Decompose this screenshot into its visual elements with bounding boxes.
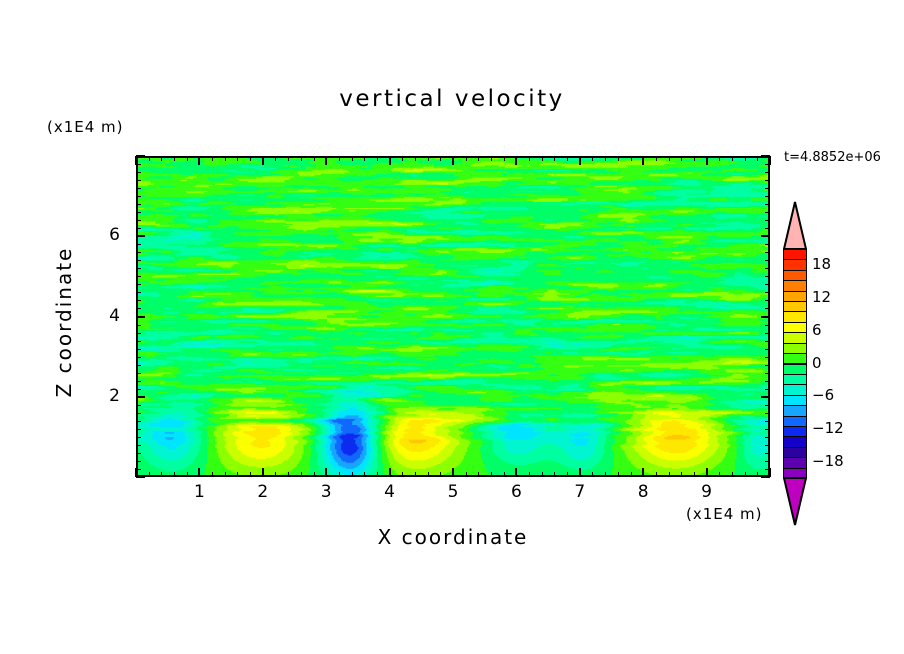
x-tick-top: [352, 156, 353, 161]
y-tick-minor: [136, 180, 141, 181]
y-tick-minor: [136, 172, 141, 173]
x-tick-minor: [504, 472, 505, 477]
x-tick-top: [466, 156, 467, 161]
x-tick-top: [478, 156, 479, 161]
y-tick-minor: [136, 228, 141, 229]
x-tick-label: 5: [433, 482, 473, 502]
y-tick-minor: [136, 212, 141, 213]
y-tick-minor: [136, 204, 141, 205]
y-tick-right: [765, 244, 770, 245]
y-tick-right: [765, 373, 770, 374]
x-tick-top: [515, 156, 517, 165]
y-tick-right: [765, 453, 770, 454]
y-tick-minor: [136, 196, 141, 197]
x-tick-top: [491, 156, 492, 161]
x-tick-top: [719, 156, 720, 161]
y-tick-minor: [136, 421, 141, 422]
x-tick-major: [325, 468, 327, 477]
y-tick-minor: [136, 292, 141, 293]
x-tick-top: [605, 156, 606, 161]
y-tick-minor: [136, 365, 141, 366]
x-tick-minor: [250, 472, 251, 477]
y-tick-right: [765, 292, 770, 293]
y-tick-major: [136, 316, 145, 318]
y-tick-right: [765, 389, 770, 390]
time-stamp-label: t=4.8852e+06: [784, 150, 881, 165]
x-tick-label: 7: [560, 482, 600, 502]
x-tick-top: [262, 156, 264, 165]
x-tick-top: [579, 156, 581, 165]
x-tick-minor: [745, 472, 746, 477]
x-tick-minor: [275, 472, 276, 477]
x-tick-minor: [656, 472, 657, 477]
y-tick-right: [761, 476, 770, 478]
x-tick-top: [757, 156, 758, 161]
x-tick-top: [706, 156, 708, 165]
y-tick-right: [761, 235, 770, 237]
y-tick-right: [765, 461, 770, 462]
y-tick-minor: [136, 413, 141, 414]
y-tick-minor: [136, 341, 141, 342]
y-tick-right: [765, 437, 770, 438]
x-tick-minor: [605, 472, 606, 477]
colorbar-underflow-arrow: [783, 477, 807, 527]
x-tick-top: [174, 156, 175, 161]
x-tick-minor: [364, 472, 365, 477]
x-tick-top: [554, 156, 555, 161]
y-tick-minor: [136, 437, 141, 438]
y-tick-right: [765, 333, 770, 334]
x-tick-top: [149, 156, 150, 161]
x-tick-minor: [732, 472, 733, 477]
x-tick-label: 1: [179, 482, 219, 502]
y-tick-label: 2: [96, 386, 120, 406]
x-tick-top: [198, 156, 200, 165]
y-tick-minor: [136, 252, 141, 253]
y-tick-right: [765, 180, 770, 181]
colorbar-tick-label: 12: [812, 288, 831, 306]
x-tick-major: [262, 468, 264, 477]
y-tick-major: [136, 235, 145, 237]
x-tick-top: [618, 156, 619, 161]
x-tick-minor: [757, 472, 758, 477]
x-tick-minor: [174, 472, 175, 477]
y-tick-major: [136, 396, 145, 398]
x-tick-top: [314, 156, 315, 161]
colorbar-overflow-arrow: [783, 200, 807, 250]
x-tick-top: [275, 156, 276, 161]
x-tick-top: [567, 156, 568, 161]
y-tick-label: 4: [96, 306, 120, 326]
x-tick-minor: [618, 472, 619, 477]
x-tick-minor: [529, 472, 530, 477]
y-tick-minor: [136, 188, 141, 189]
y-tick-minor: [136, 325, 141, 326]
x-tick-top: [504, 156, 505, 161]
y-tick-right: [765, 268, 770, 269]
x-tick-minor: [288, 472, 289, 477]
y-tick-right: [765, 381, 770, 382]
x-tick-major: [452, 468, 454, 477]
contour-plot-area: [136, 156, 770, 477]
y-tick-major: [136, 155, 145, 157]
y-tick-minor: [136, 381, 141, 382]
x-tick-major: [642, 468, 644, 477]
y-tick-right: [761, 316, 770, 318]
x-tick-top: [364, 156, 365, 161]
x-tick-top: [339, 156, 340, 161]
y-tick-minor: [136, 333, 141, 334]
x-tick-label: 3: [306, 482, 346, 502]
x-tick-minor: [237, 472, 238, 477]
y-tick-minor: [136, 276, 141, 277]
x-tick-top: [377, 156, 378, 161]
y-tick-minor: [136, 469, 141, 470]
y-tick-right: [765, 276, 770, 277]
x-tick-label: 6: [496, 482, 536, 502]
y-tick-right: [765, 220, 770, 221]
y-tick-minor: [136, 284, 141, 285]
colorbar: [783, 249, 807, 478]
y-tick-right: [765, 228, 770, 229]
x-axis-title: X coordinate: [136, 525, 770, 549]
x-tick-top: [694, 156, 695, 161]
x-tick-top: [402, 156, 403, 161]
y-tick-right: [765, 445, 770, 446]
x-tick-top: [452, 156, 454, 165]
figure-canvas: vertical velocity (x1E4 m) t=4.8852e+06 …: [0, 0, 904, 654]
x-tick-top: [250, 156, 251, 161]
y-tick-right: [765, 196, 770, 197]
colorbar-tick-label: 18: [812, 255, 831, 273]
colorbar-tick-label: −18: [812, 452, 844, 470]
x-tick-minor: [149, 472, 150, 477]
x-axis-unit-label: (x1E4 m): [686, 505, 763, 523]
y-tick-right: [765, 341, 770, 342]
x-tick-top: [161, 156, 162, 161]
x-tick-top: [225, 156, 226, 161]
x-tick-minor: [592, 472, 593, 477]
x-tick-major: [579, 468, 581, 477]
y-axis-title: Z coordinate: [52, 222, 76, 422]
y-tick-label: 6: [96, 225, 120, 245]
y-tick-minor: [136, 405, 141, 406]
y-tick-minor: [136, 164, 141, 165]
y-tick-right: [765, 164, 770, 165]
y-tick-right: [765, 284, 770, 285]
y-tick-right: [765, 172, 770, 173]
x-tick-minor: [478, 472, 479, 477]
x-tick-top: [542, 156, 543, 161]
x-tick-minor: [428, 472, 429, 477]
x-tick-label: 2: [243, 482, 283, 502]
y-tick-minor: [136, 300, 141, 301]
x-tick-top: [415, 156, 416, 161]
x-tick-minor: [161, 472, 162, 477]
x-tick-label: 8: [623, 482, 663, 502]
contour-field: [138, 158, 768, 475]
x-tick-minor: [719, 472, 720, 477]
x-tick-minor: [339, 472, 340, 477]
colorbar-tick-label: 0: [812, 354, 822, 372]
x-tick-minor: [669, 472, 670, 477]
y-tick-right: [761, 155, 770, 157]
y-tick-minor: [136, 373, 141, 374]
x-tick-top: [187, 156, 188, 161]
x-tick-top: [642, 156, 644, 165]
x-tick-minor: [542, 472, 543, 477]
x-tick-top: [301, 156, 302, 161]
colorbar-tick-label: −6: [812, 386, 834, 404]
x-tick-top: [237, 156, 238, 161]
y-tick-minor: [136, 461, 141, 462]
y-tick-major: [136, 476, 145, 478]
y-tick-right: [761, 396, 770, 398]
x-tick-top: [681, 156, 682, 161]
y-tick-minor: [136, 244, 141, 245]
x-tick-top: [631, 156, 632, 161]
x-tick-top: [288, 156, 289, 161]
x-tick-top: [529, 156, 530, 161]
y-tick-minor: [136, 308, 141, 309]
x-tick-label: 4: [370, 482, 410, 502]
y-tick-minor: [136, 429, 141, 430]
y-axis-unit-label: (x1E4 m): [47, 118, 124, 136]
x-tick-top: [732, 156, 733, 161]
x-tick-major: [389, 468, 391, 477]
x-tick-minor: [694, 472, 695, 477]
x-tick-minor: [352, 472, 353, 477]
y-tick-right: [765, 300, 770, 301]
x-tick-minor: [314, 472, 315, 477]
y-tick-right: [765, 212, 770, 213]
x-tick-minor: [301, 472, 302, 477]
x-tick-minor: [212, 472, 213, 477]
x-tick-top: [428, 156, 429, 161]
y-tick-right: [765, 429, 770, 430]
x-tick-minor: [440, 472, 441, 477]
y-tick-right: [765, 188, 770, 189]
y-tick-minor: [136, 260, 141, 261]
y-tick-minor: [136, 389, 141, 390]
y-tick-minor: [136, 445, 141, 446]
x-tick-top: [745, 156, 746, 161]
x-tick-minor: [466, 472, 467, 477]
x-tick-minor: [567, 472, 568, 477]
x-tick-top: [325, 156, 327, 165]
x-tick-top: [592, 156, 593, 161]
x-tick-minor: [402, 472, 403, 477]
y-tick-minor: [136, 268, 141, 269]
x-tick-top: [669, 156, 670, 161]
x-tick-minor: [415, 472, 416, 477]
y-tick-right: [765, 325, 770, 326]
y-tick-right: [765, 204, 770, 205]
y-tick-right: [765, 413, 770, 414]
y-tick-minor: [136, 349, 141, 350]
x-tick-top: [389, 156, 391, 165]
x-tick-minor: [491, 472, 492, 477]
colorbar-tick-label: 6: [812, 321, 822, 339]
y-tick-right: [765, 357, 770, 358]
x-tick-label: 9: [687, 482, 727, 502]
x-tick-minor: [377, 472, 378, 477]
y-tick-minor: [136, 220, 141, 221]
x-tick-top: [440, 156, 441, 161]
x-tick-minor: [554, 472, 555, 477]
x-tick-minor: [631, 472, 632, 477]
y-tick-minor: [136, 453, 141, 454]
x-tick-major: [198, 468, 200, 477]
x-tick-top: [212, 156, 213, 161]
y-tick-right: [765, 421, 770, 422]
colorbar-tick-label: −12: [812, 419, 844, 437]
y-tick-right: [765, 365, 770, 366]
x-tick-minor: [681, 472, 682, 477]
y-tick-right: [765, 349, 770, 350]
x-tick-minor: [225, 472, 226, 477]
y-tick-minor: [136, 357, 141, 358]
chart-title: vertical velocity: [0, 86, 904, 112]
y-tick-right: [765, 252, 770, 253]
x-tick-minor: [187, 472, 188, 477]
y-tick-right: [765, 469, 770, 470]
x-tick-top: [656, 156, 657, 161]
y-tick-right: [765, 260, 770, 261]
y-tick-right: [765, 405, 770, 406]
x-tick-major: [515, 468, 517, 477]
y-tick-right: [765, 308, 770, 309]
x-tick-major: [706, 468, 708, 477]
